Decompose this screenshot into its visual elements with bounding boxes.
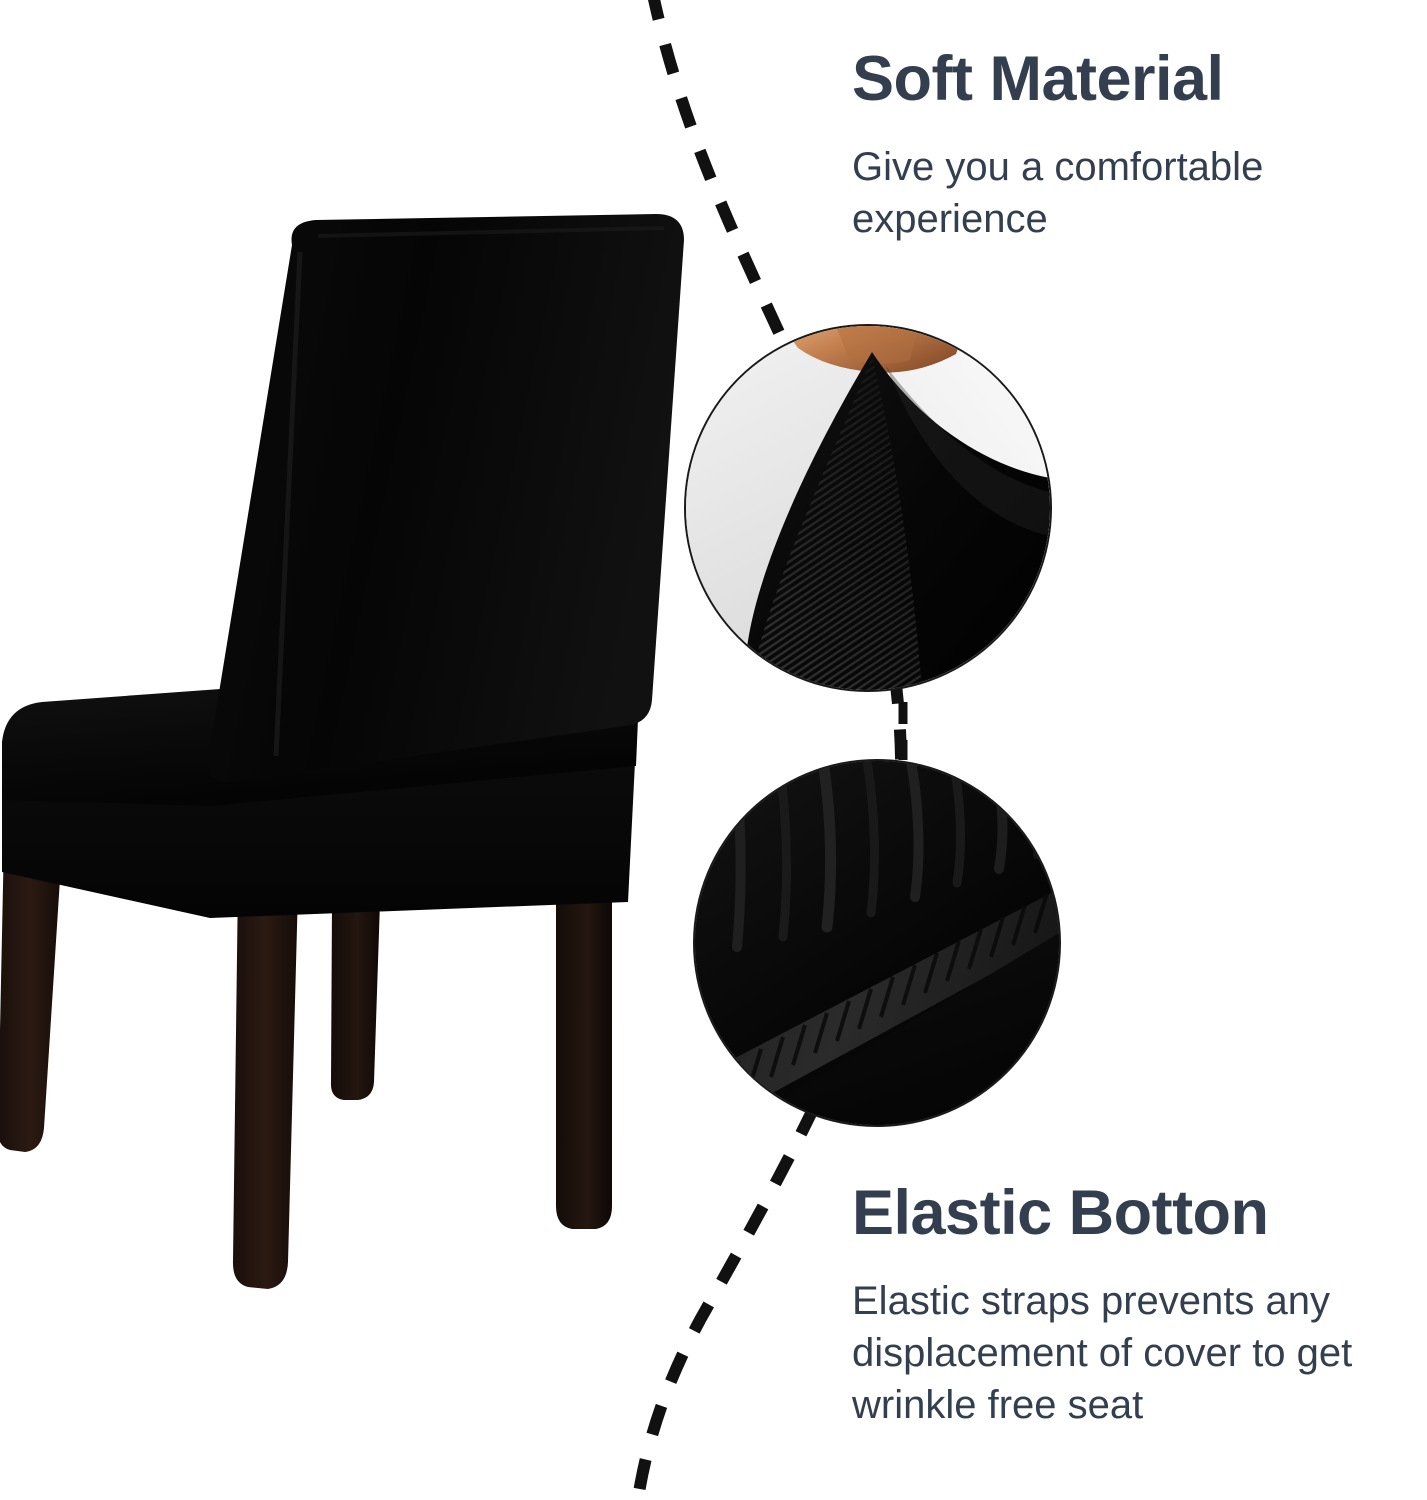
feature-elastic-botton: Elastic Botton Elastic straps prevents a… xyxy=(852,1178,1397,1431)
detail-circle-elastic-botton xyxy=(695,761,1059,1125)
feature-title-elastic-botton: Elastic Botton xyxy=(852,1178,1397,1249)
product-infographic: Soft Material Give you a comfortable exp… xyxy=(0,0,1427,1500)
chair-leg-front-left xyxy=(0,838,62,1152)
chair-svg xyxy=(0,0,700,1320)
chair-leg-front-right xyxy=(233,880,298,1289)
feature-title-soft-material: Soft Material xyxy=(852,44,1382,115)
feature-soft-material: Soft Material Give you a comfortable exp… xyxy=(852,44,1382,245)
feature-description-elastic-botton: Elastic straps prevents any displacement… xyxy=(852,1275,1397,1431)
elastic-hem-closeup-art xyxy=(695,761,1059,1125)
chair-leg-rear-left xyxy=(331,902,380,1100)
detail-circle-soft-material xyxy=(686,326,1050,690)
chair-illustration xyxy=(0,0,700,1320)
feature-description-soft-material: Give you a comfortable experience xyxy=(852,141,1382,245)
dashed-connector-icon xyxy=(896,700,910,762)
fabric-closeup-art xyxy=(686,326,1050,690)
chair-leg-rear-right xyxy=(556,860,612,1229)
